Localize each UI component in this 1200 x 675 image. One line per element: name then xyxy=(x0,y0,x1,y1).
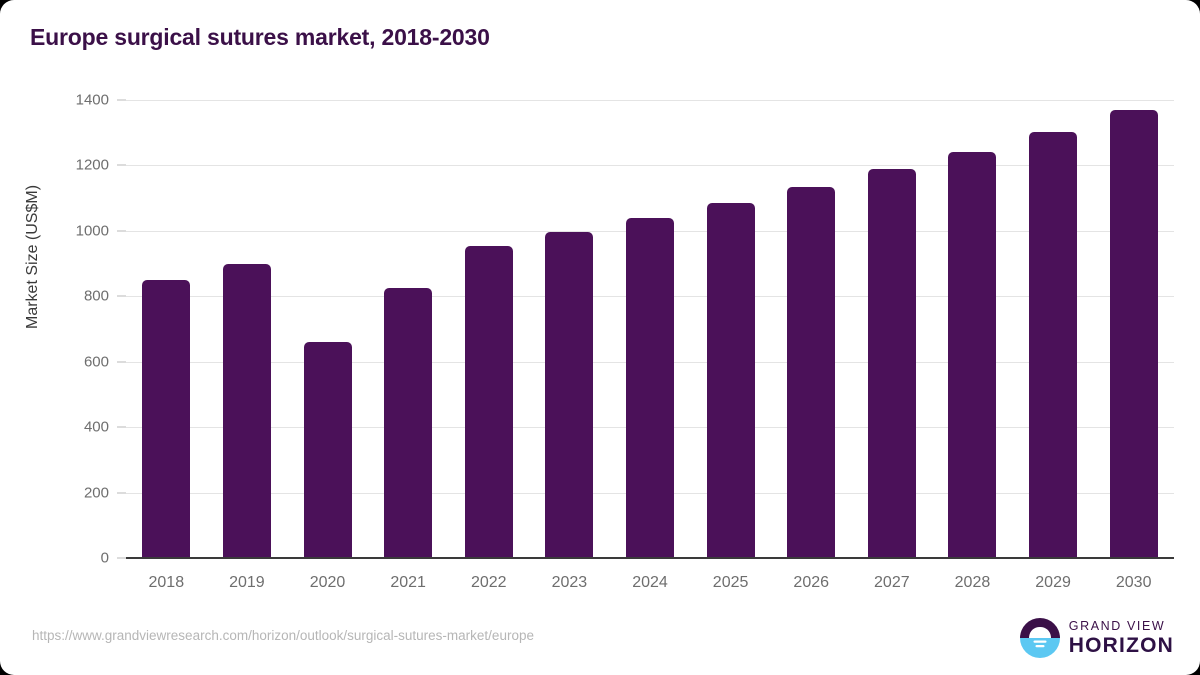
chart-card: Europe surgical sutures market, 2018-203… xyxy=(0,0,1200,675)
page-title: Europe surgical sutures market, 2018-203… xyxy=(30,24,490,51)
x-axis-tick-label: 2024 xyxy=(610,574,691,592)
bar-group[interactable]: 2022 xyxy=(448,100,529,558)
x-axis-line xyxy=(126,557,1174,559)
bar[interactable] xyxy=(384,288,432,558)
bar-group[interactable]: 2026 xyxy=(771,100,852,558)
y-axis-tick-mark xyxy=(117,492,126,493)
logo-line-horizon: HORIZON xyxy=(1069,635,1174,656)
y-axis-title: Market Size (US$M) xyxy=(24,185,42,329)
y-axis-tick-mark xyxy=(117,100,126,101)
bar-group[interactable]: 2028 xyxy=(932,100,1013,558)
bar[interactable] xyxy=(465,246,513,558)
y-axis-tick-label: 0 xyxy=(101,550,109,567)
bar[interactable] xyxy=(707,203,755,558)
x-axis-tick-label: 2027 xyxy=(852,574,933,592)
x-axis-tick-label: 2029 xyxy=(1013,574,1094,592)
bar-group[interactable]: 2030 xyxy=(1093,100,1174,558)
y-axis-tick-label: 600 xyxy=(84,353,109,370)
logo-wordmark: GRAND VIEW HORIZON xyxy=(1069,620,1174,657)
y-axis-tick-label: 400 xyxy=(84,419,109,436)
y-axis-tick-mark xyxy=(117,296,126,297)
source-url[interactable]: https://www.grandviewresearch.com/horizo… xyxy=(32,628,534,643)
x-axis-tick-label: 2022 xyxy=(448,574,529,592)
bar-group[interactable]: 2018 xyxy=(126,100,207,558)
bar-group[interactable]: 2025 xyxy=(690,100,771,558)
bar[interactable] xyxy=(1110,110,1158,558)
y-axis-tick-mark xyxy=(117,427,126,428)
bar-group[interactable]: 2027 xyxy=(852,100,933,558)
plot-area: 0200400600800100012001400201820192020202… xyxy=(126,100,1174,558)
bar[interactable] xyxy=(787,187,835,558)
x-axis-tick-label: 2026 xyxy=(771,574,852,592)
bar-group[interactable]: 2019 xyxy=(207,100,288,558)
bar[interactable] xyxy=(142,280,190,558)
x-axis-tick-label: 2023 xyxy=(529,574,610,592)
y-axis-tick-label: 200 xyxy=(84,484,109,501)
y-axis-tick-mark xyxy=(117,230,126,231)
brand-logo: GRAND VIEW HORIZON xyxy=(1020,618,1174,658)
y-axis-tick-label: 1000 xyxy=(76,222,109,239)
x-axis-tick-label: 2021 xyxy=(368,574,449,592)
y-axis-tick-label: 1200 xyxy=(76,157,109,174)
x-axis-tick-label: 2030 xyxy=(1093,574,1174,592)
x-axis-tick-label: 2020 xyxy=(287,574,368,592)
y-axis-tick-label: 800 xyxy=(84,288,109,305)
bar[interactable] xyxy=(948,152,996,558)
y-axis-tick-mark xyxy=(117,361,126,362)
bar[interactable] xyxy=(1029,132,1077,558)
y-axis-tick-mark xyxy=(117,558,126,559)
x-axis-tick-label: 2028 xyxy=(932,574,1013,592)
x-axis-tick-label: 2025 xyxy=(690,574,771,592)
y-axis-tick-mark xyxy=(117,165,126,166)
bar-group[interactable]: 2021 xyxy=(368,100,449,558)
bar-group[interactable]: 2029 xyxy=(1013,100,1094,558)
x-axis-tick-label: 2019 xyxy=(207,574,288,592)
bar-group[interactable]: 2020 xyxy=(287,100,368,558)
bar[interactable] xyxy=(626,218,674,558)
bar-group[interactable]: 2024 xyxy=(610,100,691,558)
horizon-logo-icon xyxy=(1020,618,1060,658)
y-axis-tick-label: 1400 xyxy=(76,92,109,109)
x-axis-tick-label: 2018 xyxy=(126,574,207,592)
bar[interactable] xyxy=(868,169,916,558)
bar[interactable] xyxy=(304,342,352,558)
bar[interactable] xyxy=(545,232,593,558)
bar[interactable] xyxy=(223,264,271,558)
logo-line-grand-view: GRAND VIEW xyxy=(1069,620,1174,633)
bar-group[interactable]: 2023 xyxy=(529,100,610,558)
